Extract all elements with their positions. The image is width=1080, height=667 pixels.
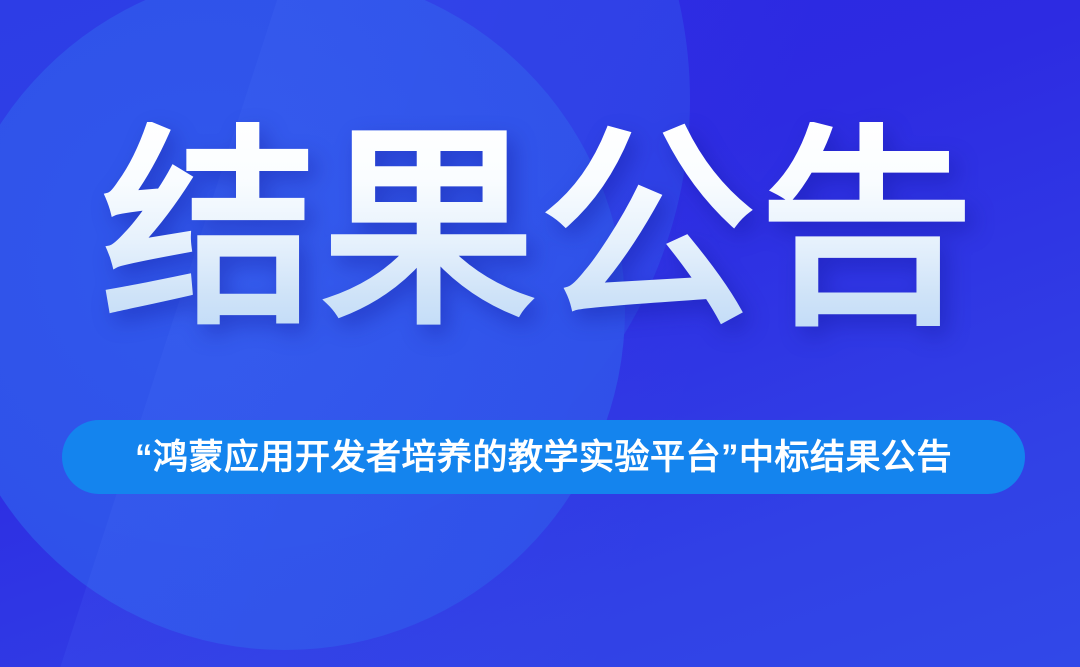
announcement-banner: 结果公告 “鸿蒙应用开发者培养的教学实验平台”中标结果公告	[0, 0, 1080, 667]
banner-headline: 结果公告	[102, 122, 978, 337]
headline-container: 结果公告	[0, 122, 1080, 337]
subtitle-pill: “鸿蒙应用开发者培养的教学实验平台”中标结果公告	[62, 420, 1025, 494]
subtitle-text: “鸿蒙应用开发者培养的教学实验平台”中标结果公告	[135, 440, 952, 475]
